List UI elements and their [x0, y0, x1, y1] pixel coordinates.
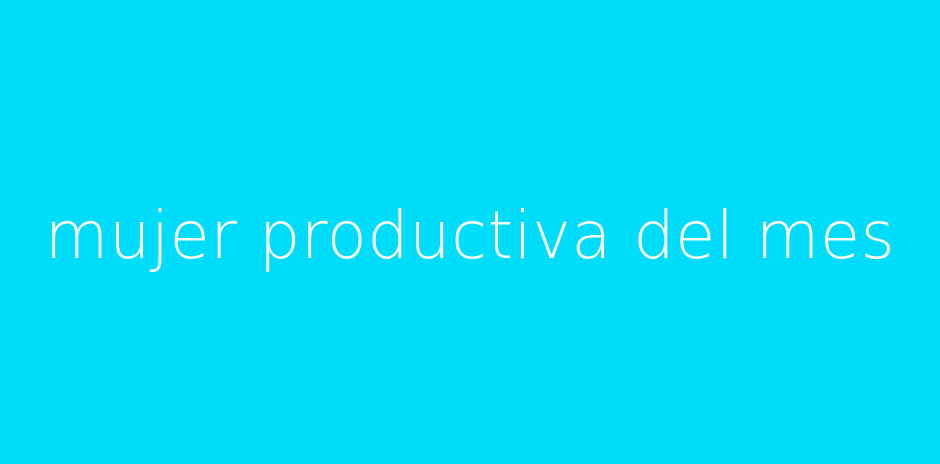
banner-canvas: mujer productiva del mes [0, 0, 940, 464]
banner-headline-text: mujer productiva del mes [5, 203, 936, 269]
